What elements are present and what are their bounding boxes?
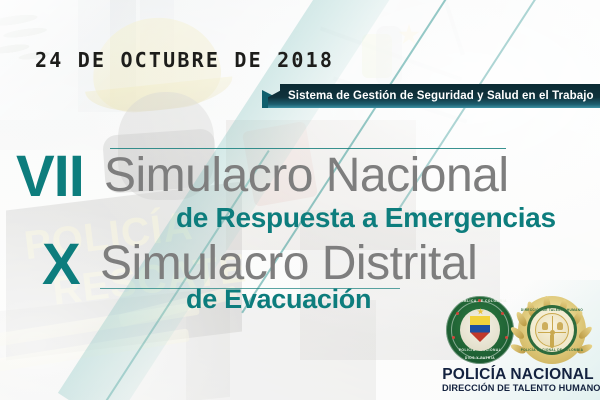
policia-nacional-shield-icon: REPÚBLICA DE COLOMBIA POLICÍA · NACIONAL… bbox=[446, 296, 514, 364]
talento-humano-wreath-icon: DIRECCIÓN DE TALENTO HUMANO POLICÍA NACI… bbox=[518, 296, 586, 364]
emblem-ring-dot bbox=[456, 312, 459, 315]
wreath-text-direccion-talento-humano: DIRECCIÓN DE TALENTO HUMANO bbox=[518, 308, 586, 312]
wreath-divider bbox=[552, 316, 553, 330]
footer-logo-group: REPÚBLICA DE COLOMBIA POLICÍA · NACIONAL… bbox=[442, 296, 594, 396]
title-line-de-respuesta-a-emergencias: de Respuesta a Emergencias bbox=[176, 204, 556, 232]
roman-numeral-x: X bbox=[42, 236, 80, 294]
footer-organization-name: POLICÍA NACIONAL bbox=[442, 366, 594, 384]
simulacro-nacional-poster: POLICÍA RESCATE 24 DE OCTUBRE DE 2018 Si… bbox=[0, 0, 600, 400]
human-figure-body-icon bbox=[550, 334, 554, 348]
title-line-de-evacuacion: de Evacuación bbox=[186, 286, 371, 313]
emblem-ring-dot bbox=[505, 336, 508, 339]
title-line-simulacro-distrital: Simulacro Distrital bbox=[100, 240, 477, 288]
helping-hand-icon bbox=[557, 322, 563, 330]
emblem-ring-dot bbox=[452, 336, 455, 339]
footer-department-name: DIRECCIÓN DE TALENTO HUMANO bbox=[442, 383, 594, 393]
title-line-simulacro-nacional: Simulacro Nacional bbox=[104, 152, 509, 200]
roman-numeral-vii: VII bbox=[16, 148, 84, 206]
wreath-text-policia-nacional-colombia: POLICÍA NACIONAL DE COLOMBIA bbox=[518, 348, 586, 352]
emblem-ring-dot bbox=[501, 312, 504, 315]
helping-hand-icon bbox=[542, 322, 548, 330]
event-date: 24 DE OCTUBRE DE 2018 bbox=[35, 48, 334, 72]
sgsst-ribbon-banner: Sistema de Gestión de Seguridad y Salud … bbox=[268, 84, 600, 108]
sgsst-ribbon-label: Sistema de Gestión de Seguridad y Salud … bbox=[288, 90, 594, 102]
emblem-ring-dot bbox=[478, 299, 481, 302]
emblem-text-dios-y-patria: DIOS Y PATRIA bbox=[446, 356, 514, 360]
